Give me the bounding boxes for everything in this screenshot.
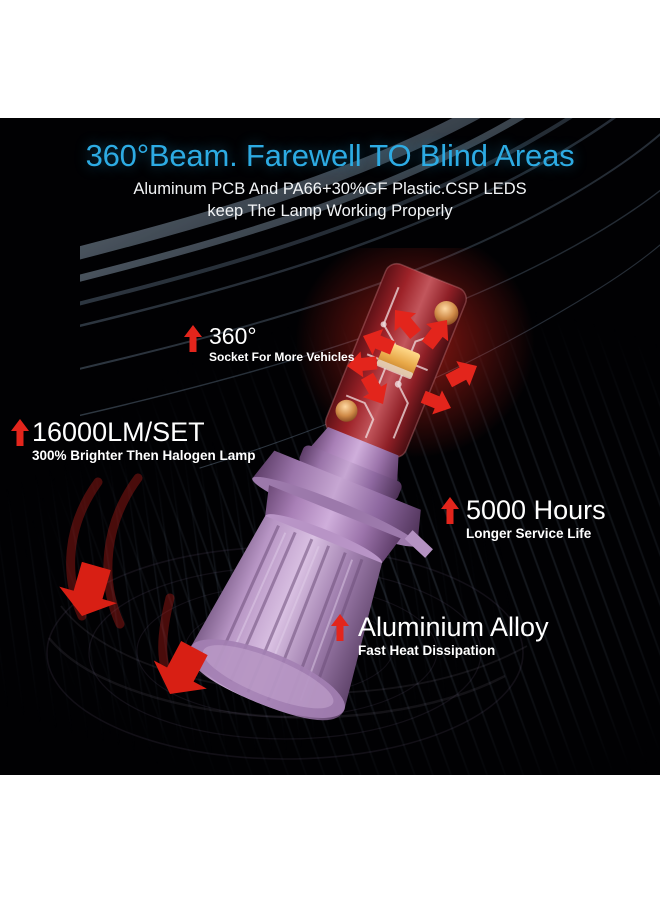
heat-dissipation-airflow-arrows	[20, 448, 350, 738]
up-arrow-icon	[10, 418, 30, 448]
callout-caption: 300% Brighter Then Halogen Lamp	[32, 447, 256, 464]
infographic-panel: 360°Beam. Farewell TO Blind Areas Alumin…	[0, 118, 660, 775]
subtitle-line-2: keep The Lamp Working Properly	[207, 202, 452, 220]
page-title: 360°Beam. Farewell TO Blind Areas	[0, 138, 660, 174]
callout-headline: 5000 Hours	[466, 496, 606, 525]
callout-caption: Socket For More Vehicles	[209, 349, 354, 366]
callout-headline: 360°	[209, 324, 354, 349]
up-arrow-icon	[183, 324, 203, 354]
callout-headline: Aluminium Alloy	[358, 613, 549, 642]
up-arrow-icon	[440, 496, 460, 526]
subtitle-line-1: Aluminum PCB And PA66+30%GF Plastic.CSP …	[133, 180, 526, 198]
page-subtitle: Aluminum PCB And PA66+30%GF Plastic.CSP …	[0, 178, 660, 222]
callout-headline: 16000LM/SET	[32, 418, 256, 447]
callout-caption: Longer Service Life	[466, 525, 606, 542]
callout-material: Aluminium Alloy Fast Heat Dissipation	[330, 613, 549, 659]
up-arrow-icon	[330, 613, 350, 643]
callout-caption: Fast Heat Dissipation	[358, 642, 549, 659]
callout-brightness: 16000LM/SET 300% Brighter Then Halogen L…	[10, 418, 256, 464]
callout-lifespan: 5000 Hours Longer Service Life	[440, 496, 606, 542]
callout-beam-angle: 360° Socket For More Vehicles	[183, 324, 354, 366]
